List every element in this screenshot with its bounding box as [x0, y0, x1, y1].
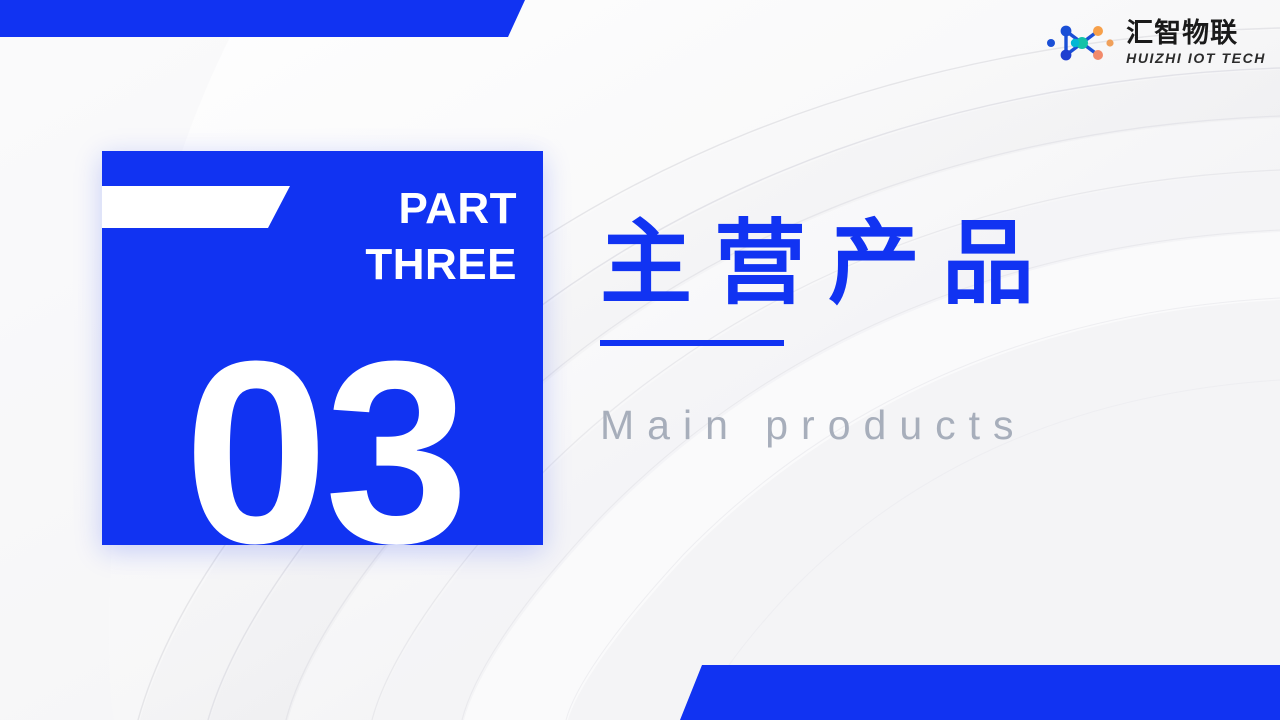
logo-english-name: HUIZHI IOT TECH [1126, 51, 1266, 65]
headline-english-subtitle: Main products [600, 402, 1220, 448]
card-accent-bar [102, 186, 290, 228]
part-label-line1: PART [277, 181, 517, 237]
section-number: 03 [102, 323, 547, 583]
bottom-accent-band [680, 665, 1280, 720]
top-accent-band [0, 0, 525, 37]
headline-block: 主营产品 Main products [600, 212, 1220, 448]
slide-root: PART THREE 03 主营产品 Main products [0, 0, 1280, 720]
company-logo: 汇智物联 HUIZHI IOT TECH [1042, 20, 1266, 65]
part-label: PART THREE [277, 181, 517, 293]
logo-text-group: 汇智物联 HUIZHI IOT TECH [1126, 20, 1266, 65]
molecule-network-icon [1042, 21, 1118, 65]
headline-divider [600, 340, 784, 346]
logo-chinese-name: 汇智物联 [1126, 20, 1266, 47]
section-part-card: PART THREE 03 [102, 151, 543, 545]
part-label-line2: THREE [277, 237, 517, 293]
headline-chinese-title: 主营产品 [600, 212, 1220, 316]
